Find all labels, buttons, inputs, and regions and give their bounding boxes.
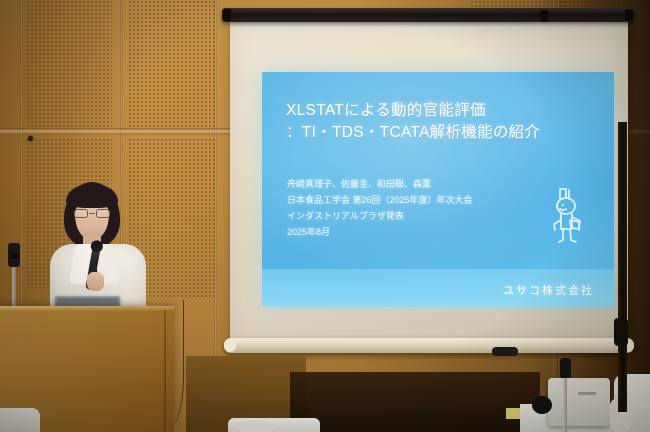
screen-roller-bar: [222, 8, 634, 22]
presentation-photo-scene: XLSTATによる動的官能評価 ：TI・TDS・TCATA解析機能の紹介 舟崎真…: [0, 0, 650, 432]
bottom-bar-end-cap: [224, 339, 236, 352]
rabbit-mascot-icon: [546, 184, 590, 246]
power-cable: [150, 300, 184, 426]
slide-meta-text: 舟崎真理子、佐藤圭、和田聡、森薫 日本食品工学会 第26回（2025年度）年次大…: [287, 176, 544, 240]
foreground-object: [532, 396, 552, 414]
foreground-dark-area: [290, 372, 540, 432]
mic-stand-head: [560, 358, 571, 378]
glasses-lens: [74, 209, 88, 218]
presenter-fringe: [66, 184, 118, 208]
dark-vertical-post: [618, 122, 627, 412]
foreground-microphone-stand: [560, 358, 570, 432]
company-logo-text: ユサコ株式会社: [503, 282, 594, 298]
roller-knob: [540, 10, 549, 22]
chair-slot: [578, 392, 596, 395]
slide-title: XLSTATによる動的官能評価 ：TI・TDS・TCATA解析機能の紹介: [286, 100, 598, 145]
mic-stand-pole: [563, 374, 567, 432]
wall-perforated-panel: [26, 0, 112, 128]
bottom-bar-pull-tab: [492, 347, 518, 356]
foreground-yellow-note: [506, 408, 520, 419]
roller-end-cap: [625, 9, 633, 21]
glasses-lens: [96, 209, 110, 218]
chair-back: [548, 378, 610, 426]
projection-screen: XLSTATによる動的官能評価 ：TI・TDS・TCATA解析機能の紹介 舟崎真…: [222, 8, 634, 360]
screen-fabric: XLSTATによる動的官能評価 ：TI・TDS・TCATA解析機能の紹介 舟崎真…: [230, 20, 628, 342]
wall-screw: [28, 136, 33, 141]
door-handle: [614, 318, 628, 346]
projected-slide: XLSTATによる動的官能評価 ：TI・TDS・TCATA解析機能の紹介 舟崎真…: [262, 72, 614, 307]
glasses-bridge: [89, 213, 95, 214]
presenter-person: [46, 182, 158, 312]
foreground-object: [0, 408, 40, 432]
wall-perforated-panel: [128, 0, 216, 128]
mic-stand-clip: [10, 253, 18, 259]
roller-end-cap: [223, 9, 231, 21]
presenter-hand: [87, 272, 104, 291]
presenter-glasses: [74, 209, 110, 218]
microphone-on-stand: [6, 243, 22, 315]
foreground-object: [236, 420, 276, 432]
screen-bottom-bar: [224, 338, 634, 353]
